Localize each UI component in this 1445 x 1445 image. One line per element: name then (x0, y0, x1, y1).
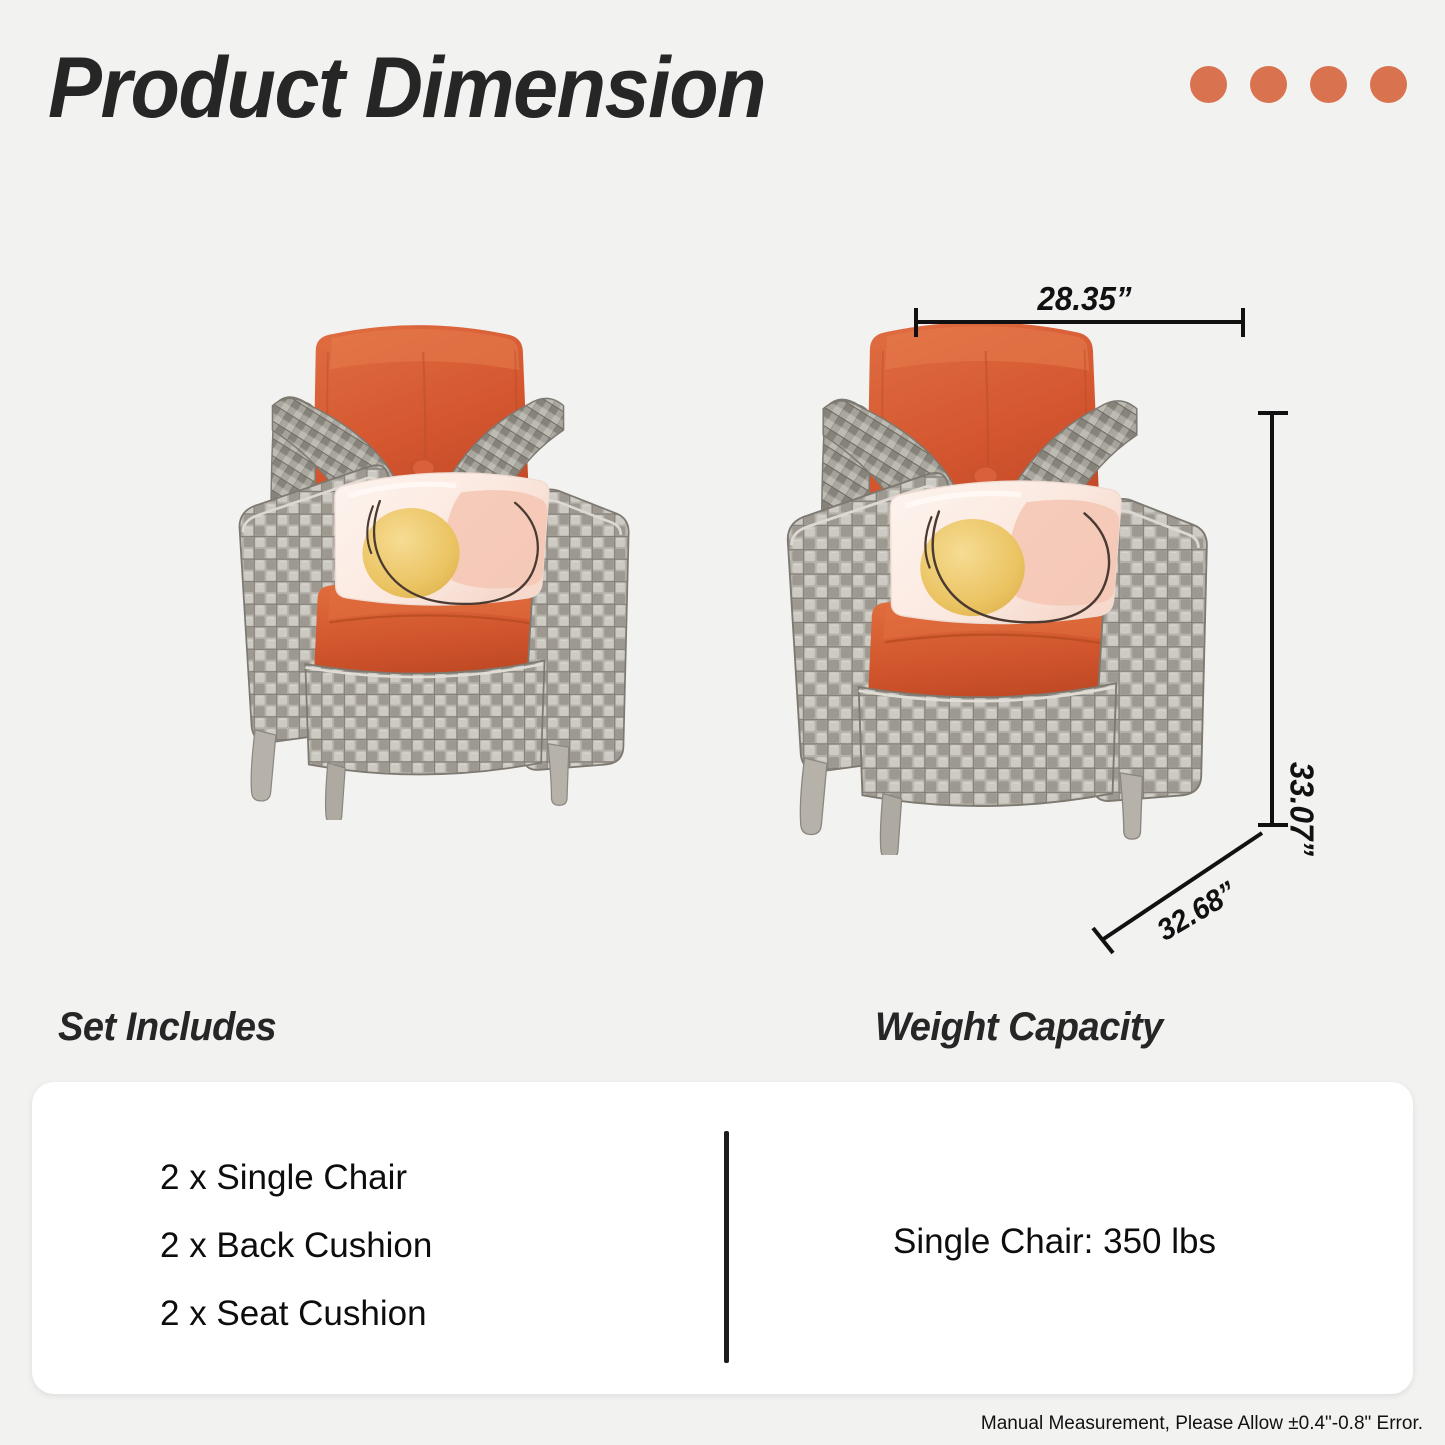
page-title: Product Dimension (48, 40, 765, 136)
set-includes-list: 2 x Single Chair 2 x Back Cushion 2 x Se… (160, 1158, 432, 1334)
width-dimension-label: 28.35” (1037, 280, 1131, 318)
dot-icon (1250, 66, 1287, 103)
weight-capacity-heading: Weight Capacity (875, 1005, 1163, 1050)
decorative-dots (1190, 66, 1407, 103)
dot-icon (1310, 66, 1347, 103)
depth-dimension-label: 32.68” (1152, 876, 1243, 949)
measurement-disclaimer: Manual Measurement, Please Allow ±0.4"-0… (981, 1413, 1423, 1435)
card-divider (724, 1131, 729, 1363)
list-item: 2 x Seat Cushion (160, 1294, 432, 1334)
dot-icon (1370, 66, 1407, 103)
chair-illustration-left (168, 300, 668, 820)
list-item: 2 x Back Cushion (160, 1226, 432, 1266)
set-includes-heading: Set Includes (58, 1005, 276, 1050)
height-dimension-label: 33.07” (1283, 762, 1321, 856)
chair-illustration-right (700, 295, 1260, 855)
weight-capacity-value: Single Chair: 350 lbs (893, 1222, 1216, 1262)
header: Product Dimension (0, 0, 1445, 170)
dot-icon (1190, 66, 1227, 103)
infographic-page: Product Dimension (0, 0, 1445, 1445)
product-illustration-area: 28.35” 33.07” 32.68” (0, 170, 1445, 980)
list-item: 2 x Single Chair (160, 1158, 432, 1198)
